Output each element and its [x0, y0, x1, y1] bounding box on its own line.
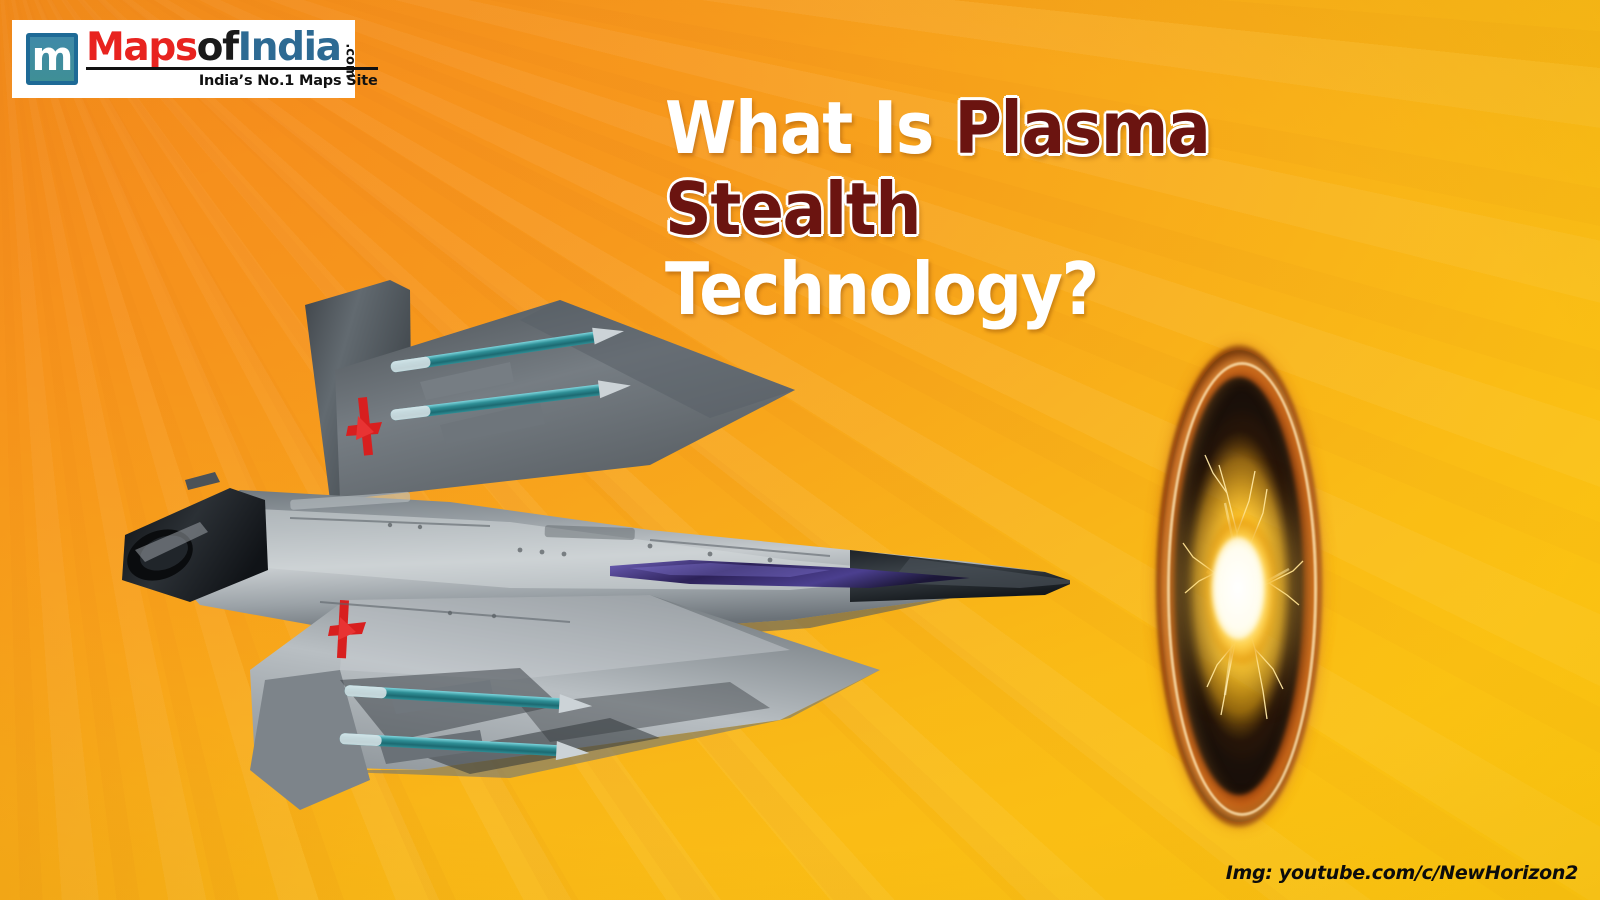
logo-word-india: India: [238, 29, 341, 66]
title-line-1: What Is Plasma Stealth: [665, 88, 1457, 249]
poster-canvas: m MapsofIndia.com India’s No.1 Maps Site…: [0, 0, 1600, 900]
plasma-outer-glow: [1160, 350, 1318, 821]
logo-mark-icon: m: [26, 33, 78, 85]
logo-word-dotcom: .com: [343, 43, 355, 78]
fighter-jet: [90, 250, 1070, 810]
title-part-what-is: What Is: [665, 86, 954, 170]
title-line-2: Technology?: [665, 249, 1457, 330]
logo-tagline: India’s No.1 Maps Site: [86, 73, 378, 89]
logo-underline: [86, 67, 378, 70]
logo-wordmark: MapsofIndia.com India’s No.1 Maps Site: [86, 29, 378, 89]
image-credit: Img: youtube.com/c/NewHorizon2: [1226, 862, 1578, 884]
logo-word-of: of: [197, 29, 238, 66]
logo-main-text: MapsofIndia.com: [86, 29, 378, 66]
page-title: What Is Plasma Stealth Technology?: [665, 88, 1457, 330]
mapsofindia-logo[interactable]: m MapsofIndia.com India’s No.1 Maps Site: [12, 20, 355, 98]
plasma-energy-ring: [1155, 343, 1323, 829]
logo-word-maps: Maps: [86, 29, 197, 66]
logo-mark-letter: m: [32, 37, 73, 77]
